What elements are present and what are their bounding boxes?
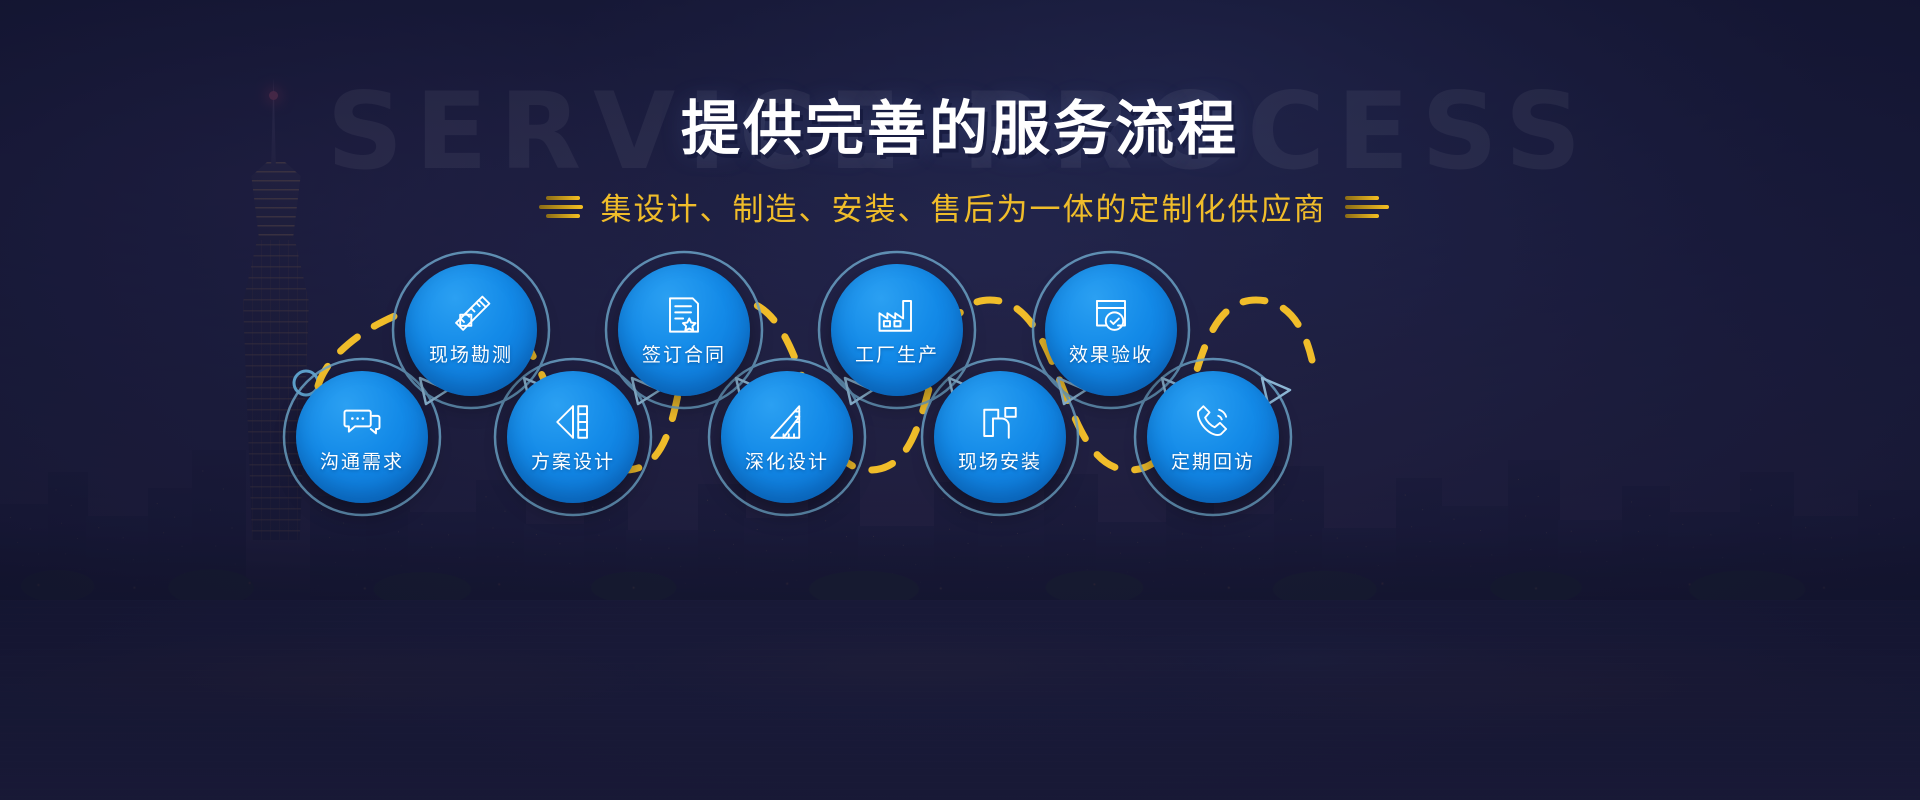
flow-step-regular-followup[interactable]: 定期回访	[1147, 371, 1279, 503]
phone-call-icon	[1192, 401, 1234, 443]
flow-step-site-survey[interactable]: 现场勘测	[405, 264, 537, 396]
flow-step-sign-contract[interactable]: 签订合同	[618, 264, 750, 396]
factory-icon	[876, 294, 918, 336]
flow-step-detailed-design[interactable]: 深化设计	[721, 371, 853, 503]
flow-step-label: 签订合同	[642, 340, 726, 367]
flow-step-label: 现场勘测	[429, 340, 513, 367]
flow-step-label: 工厂生产	[855, 340, 939, 367]
blueprint-icon	[552, 401, 594, 443]
check-approval-icon	[1090, 294, 1132, 336]
flow-step-label: 深化设计	[745, 447, 829, 474]
flow-step-scheme-design[interactable]: 方案设计	[507, 371, 639, 503]
flow-step-acceptance-check[interactable]: 效果验收	[1045, 264, 1177, 396]
flow-step-label: 定期回访	[1171, 447, 1255, 474]
install-tool-icon	[979, 401, 1021, 443]
ruler-pencil-icon	[450, 294, 492, 336]
flow-step-label: 方案设计	[531, 447, 615, 474]
contract-doc-icon	[663, 294, 705, 336]
chat-bubble-icon	[341, 401, 383, 443]
flow-step-label: 沟通需求	[320, 447, 404, 474]
flow-step-onsite-installation[interactable]: 现场安装	[934, 371, 1066, 503]
service-process-flow: 沟通需求 现场勘测 方案设计	[0, 0, 1920, 800]
triangle-ruler-icon	[766, 401, 808, 443]
flow-step-communicate-requirements[interactable]: 沟通需求	[296, 371, 428, 503]
flow-step-label: 现场安装	[958, 447, 1042, 474]
flow-step-factory-production[interactable]: 工厂生产	[831, 264, 963, 396]
flow-step-label: 效果验收	[1069, 340, 1153, 367]
